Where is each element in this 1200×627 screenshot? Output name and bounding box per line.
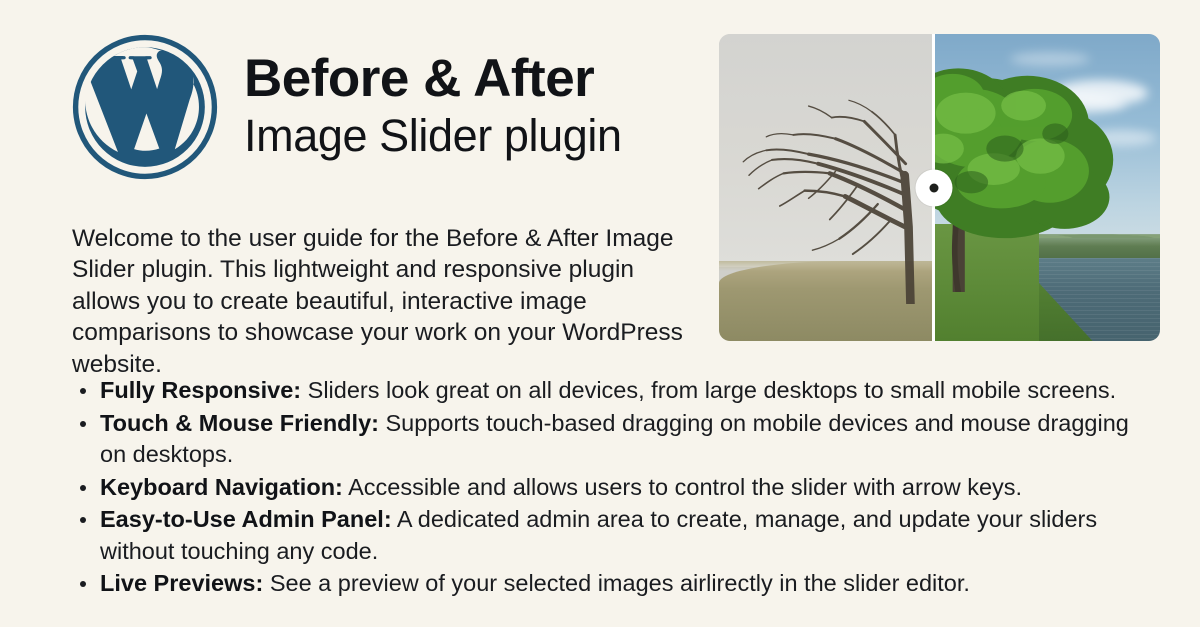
after-image [935,34,1160,341]
before-after-image-slider[interactable] [719,34,1160,341]
feature-term: Easy-to-Use Admin Panel: [100,506,392,532]
page-title: Before & After [244,52,622,105]
wordpress-logo [72,34,218,180]
list-item: Fully Responsive: Sliders look great on … [72,375,1148,407]
feature-term: Touch & Mouse Friendly: [100,410,379,436]
feature-term: Fully Responsive: [100,377,301,403]
feature-list: Fully Responsive: Sliders look great on … [72,375,1148,600]
intro-paragraph: Welcome to the user guide for the Before… [72,223,697,381]
list-item: Keyboard Navigation: Accessible and allo… [72,472,1148,504]
slider-drag-handle[interactable] [915,169,952,206]
feature-term: Keyboard Navigation: [100,474,343,500]
before-image [719,34,932,341]
feature-term: Live Previews: [100,570,263,596]
leafy-tree-icon [935,59,1157,292]
header: Before & After Image Slider plugin [72,34,622,180]
list-item: Touch & Mouse Friendly: Supports touch-b… [72,408,1148,471]
feature-description: See a preview of your selected images ai… [263,570,970,596]
feature-description: Accessible and allows users to control t… [343,474,1022,500]
bare-tree-icon [719,83,932,304]
title-block: Before & After Image Slider plugin [244,34,622,161]
poster-canvas: Before & After Image Slider plugin Welco… [0,0,1200,627]
list-item: Easy-to-Use Admin Panel: A dedicated adm… [72,504,1148,567]
slider-handle-dot [929,183,938,192]
feature-description: Sliders look great on all devices, from … [301,377,1116,403]
list-item: Live Previews: See a preview of your sel… [72,568,1148,600]
page-subtitle: Image Slider plugin [244,111,622,161]
